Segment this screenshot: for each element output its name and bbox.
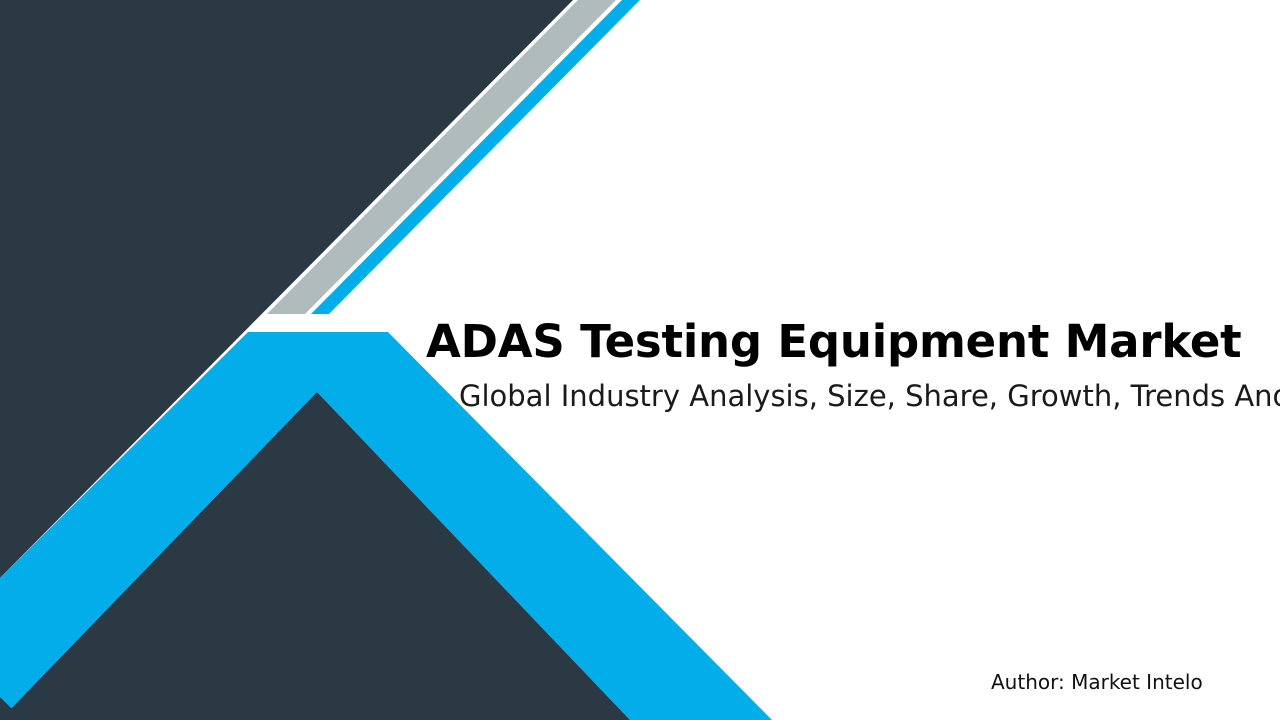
title-slide: ADAS Testing Equipment Market Global Ind… [0, 0, 1280, 720]
page-title: ADAS Testing Equipment Market [426, 313, 1242, 371]
slide-text-layer: ADAS Testing Equipment Market Global Ind… [0, 0, 1280, 720]
page-subtitle: Global Industry Analysis, Size, Share, G… [459, 376, 1280, 416]
author-credit: Author: Market Intelo [991, 669, 1203, 695]
